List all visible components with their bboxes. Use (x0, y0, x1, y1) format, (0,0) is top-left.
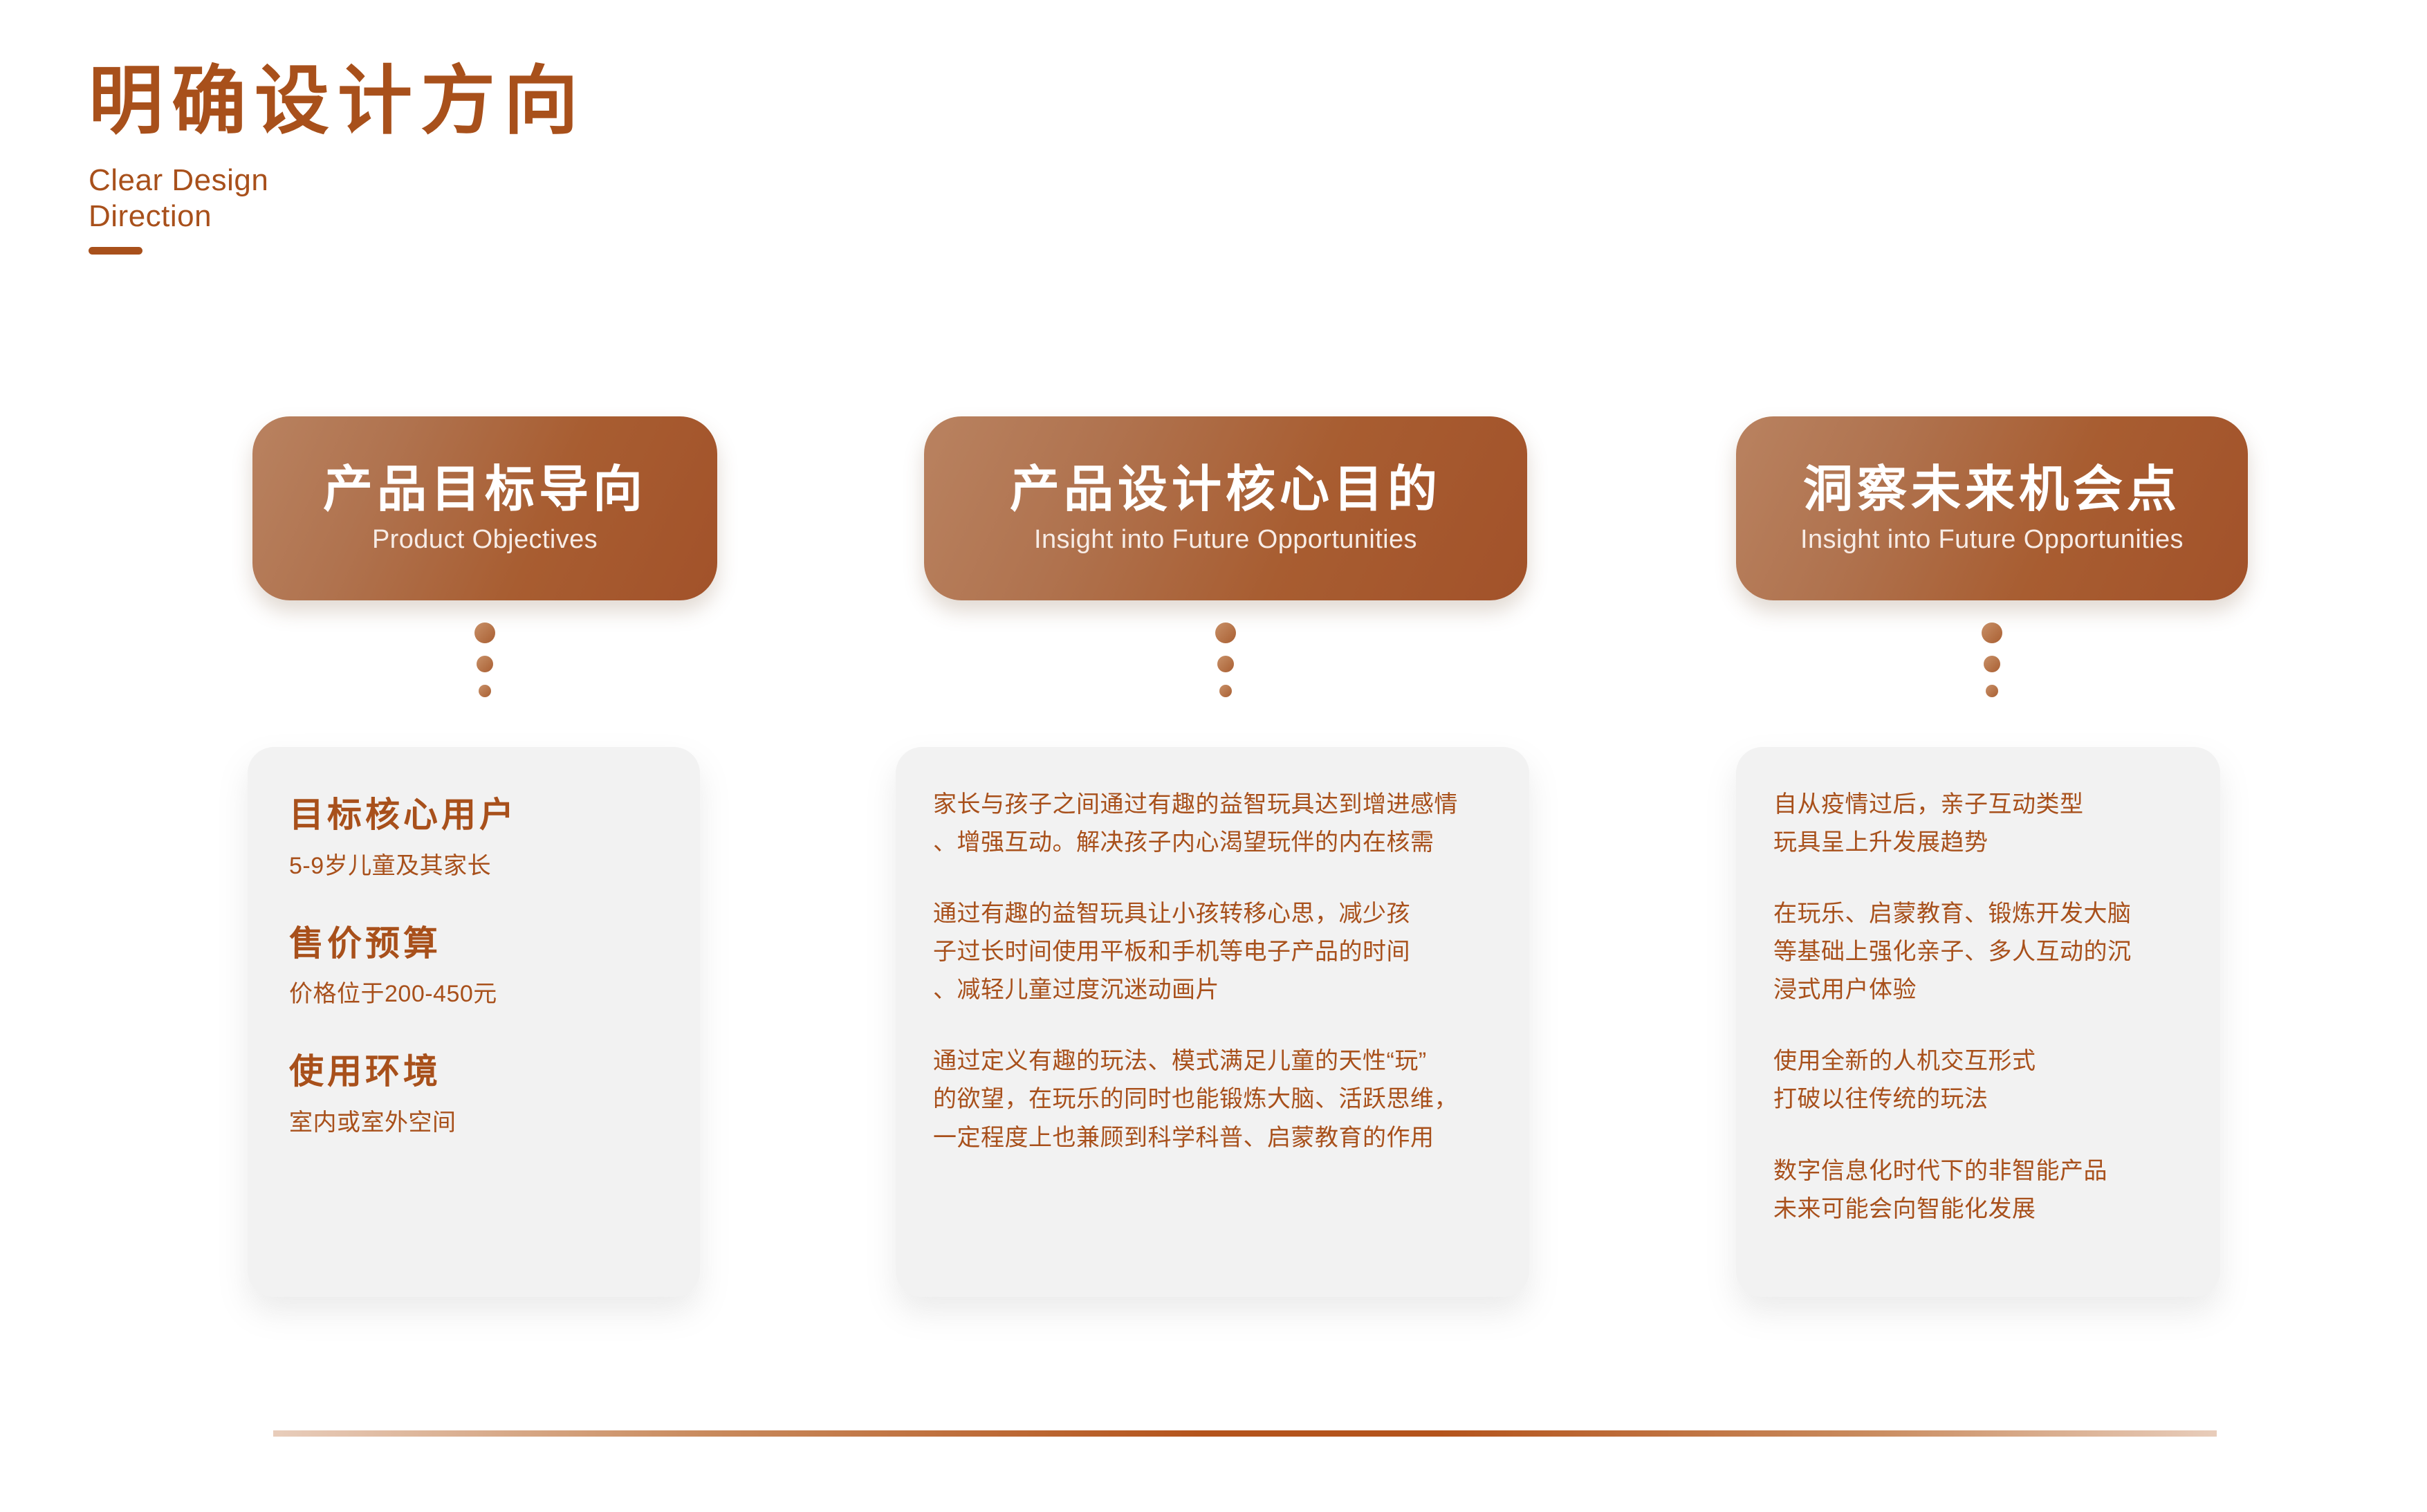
content-card-3: 自从疫情过后，亲子互动类型 玩具呈上升发展趋势 在玩乐、启蒙教育、锻炼开发大脑 … (1736, 747, 2220, 1297)
kv-label: 使用环境 (289, 1052, 658, 1092)
column-future-opportunities: 洞察未来机会点 Insight into Future Opportunitie… (1736, 416, 2248, 1297)
content-card-2: 家长与孩子之间通过有趣的益智玩具达到增进感情 、增强互动。解决孩子内心渴望玩伴的… (896, 747, 1529, 1297)
paragraph: 自从疫情过后，亲子互动类型 玩具呈上升发展趋势 (1773, 786, 2183, 862)
kv-value: 5-9岁儿童及其家长 (289, 851, 658, 881)
kv-value: 室内或室外空间 (289, 1107, 658, 1138)
key-value-item: 售价预算 价格位于200-450元 (289, 924, 658, 1010)
paragraph: 家长与孩子之间通过有趣的益智玩具达到增进感情 、增强互动。解决孩子内心渴望玩伴的… (933, 786, 1492, 862)
connector-dot-small (1219, 685, 1232, 697)
paragraph: 使用全新的人机交互形式 打破以往传统的玩法 (1773, 1042, 2183, 1118)
bottom-divider-rule (273, 1430, 2217, 1437)
connector-dot-large (1215, 623, 1236, 643)
kv-label: 目标核心用户 (289, 795, 658, 836)
pill-title-en-1: Product Objectives (372, 526, 598, 555)
connector-dot-large (1982, 623, 2002, 643)
connector-dot-small (479, 685, 491, 697)
pill-header-2[interactable]: 产品设计核心目的 Insight into Future Opportuniti… (924, 416, 1527, 600)
pill-title-cn-2: 产品设计核心目的 (1010, 463, 1441, 517)
paragraph: 通过定义有趣的玩法、模式满足儿童的天性“玩” 的欲望，在玩乐的同时也能锻炼大脑、… (933, 1042, 1492, 1156)
kv-label: 售价预算 (289, 924, 658, 964)
dot-connector-2 (924, 600, 1527, 747)
paragraph: 在玩乐、启蒙教育、锻炼开发大脑 等基础上强化亲子、多人互动的沉 浸式用户体验 (1773, 895, 2183, 1009)
pill-title-en-2: Insight into Future Opportunities (1034, 526, 1417, 555)
pill-title-en-3: Insight into Future Opportunities (1800, 526, 2184, 555)
dot-connector-3 (1736, 600, 2248, 747)
pill-title-cn-1: 产品目标导向 (323, 463, 647, 517)
pill-title-cn-3: 洞察未来机会点 (1803, 463, 2181, 517)
columns-container: 产品目标导向 Product Objectives 目标核心用户 5-9岁儿童及… (0, 0, 2427, 1512)
paragraph: 通过有趣的益智玩具让小孩转移心思，减少孩 子过长时间使用平板和手机等电子产品的时… (933, 895, 1492, 1009)
paragraph: 数字信息化时代下的非智能产品 未来可能会向智能化发展 (1773, 1152, 2183, 1228)
column-core-design-purpose: 产品设计核心目的 Insight into Future Opportuniti… (924, 416, 1527, 1297)
column-product-objectives: 产品目标导向 Product Objectives 目标核心用户 5-9岁儿童及… (252, 416, 717, 1297)
connector-dot-medium (1984, 656, 2000, 672)
key-value-item: 使用环境 室内或室外空间 (289, 1052, 658, 1138)
kv-value: 价格位于200-450元 (289, 979, 658, 1009)
pill-header-3[interactable]: 洞察未来机会点 Insight into Future Opportunitie… (1736, 416, 2248, 600)
key-value-item: 目标核心用户 5-9岁儿童及其家长 (289, 795, 658, 881)
connector-dot-medium (1217, 656, 1234, 672)
connector-dot-small (1986, 685, 1998, 697)
connector-dot-medium (477, 656, 493, 672)
pill-header-1[interactable]: 产品目标导向 Product Objectives (252, 416, 717, 600)
connector-dot-large (474, 623, 495, 643)
content-card-1: 目标核心用户 5-9岁儿童及其家长 售价预算 价格位于200-450元 使用环境… (248, 747, 700, 1297)
dot-connector-1 (252, 600, 717, 747)
